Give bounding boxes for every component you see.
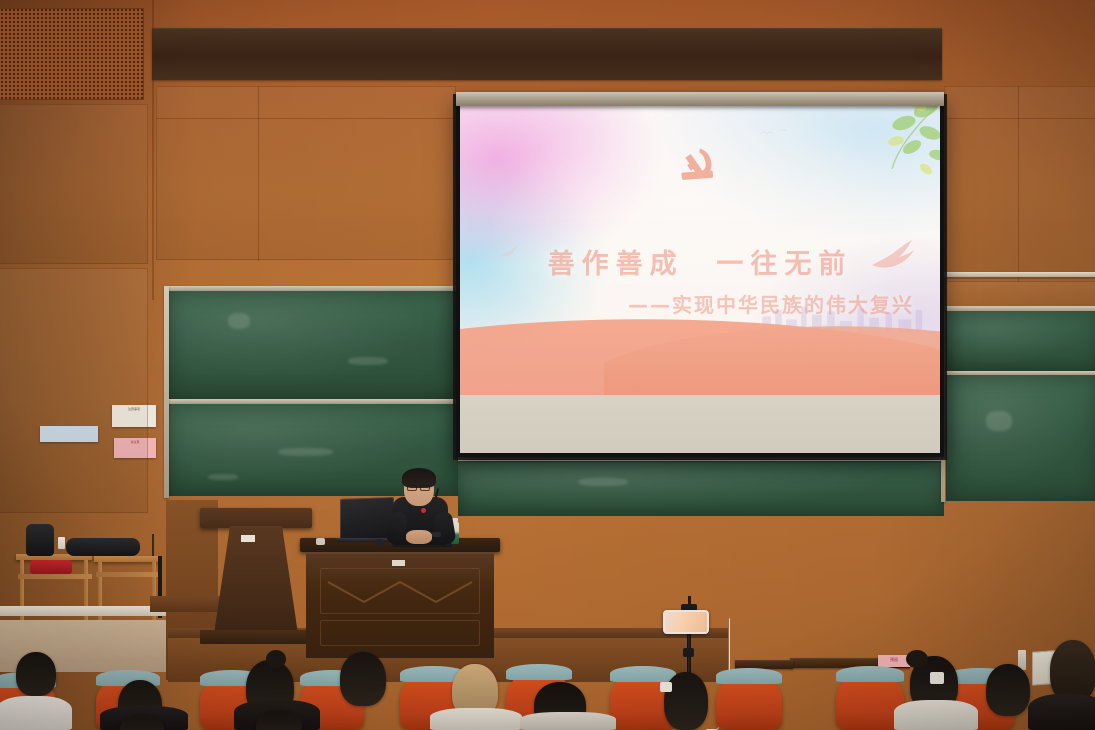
lectern-top	[200, 508, 312, 528]
lecture-hall-photo: 善作善成 一往无前 ——实现中华民族的伟大复兴 主讲人：耿悦	[0, 0, 1095, 730]
umbrella-handle	[152, 534, 154, 556]
paper-cup	[58, 537, 65, 549]
lectern-base	[200, 630, 312, 644]
desk-label-plate	[392, 560, 405, 566]
presenter-desk-panel-lower	[320, 620, 480, 646]
wall-panel-right-lower	[944, 278, 1095, 308]
seat-back-7-top	[610, 666, 676, 682]
wall-seam-vertical-3	[1018, 86, 1019, 282]
slide-bottom-band	[460, 395, 940, 453]
chalkboard-left-upper	[168, 291, 458, 399]
desk-zigzag-carving	[324, 576, 476, 608]
cpc-hammer-sickle-emblem-icon	[672, 143, 728, 189]
wall-seam-vertical-2	[258, 86, 259, 261]
audience-shoulders-6	[894, 700, 978, 730]
black-jacket-on-table	[66, 538, 140, 556]
wall-dark-band	[152, 28, 942, 80]
wall-panel-upper-left	[0, 104, 148, 264]
audience-head-10	[1050, 640, 1095, 702]
projector-screen-housing	[456, 92, 944, 106]
flying-dove-icon	[866, 235, 918, 277]
chalkboard-frame-left-side	[164, 286, 169, 498]
chalkboard-center	[458, 460, 944, 516]
seat-back-8-top	[716, 668, 782, 684]
wall-trim-rail-right	[944, 272, 1095, 277]
presentation-slide: 善作善成 一往无前 ——实现中华民族的伟大复兴 主讲人：耿悦	[460, 101, 940, 453]
seat-back-6-top	[506, 664, 572, 680]
seat-back-9-top	[836, 666, 904, 682]
wall-seam-vertical-1	[152, 0, 154, 300]
presenter-wristwatch	[432, 532, 441, 537]
audience-head-1	[16, 652, 56, 696]
audience-shoulders-7	[1028, 694, 1095, 730]
audience-head-7	[664, 672, 708, 730]
presenter-glasses	[407, 485, 417, 491]
audience-head-12	[256, 710, 302, 730]
presenter-glasses-right	[420, 485, 430, 491]
hair-clip-1	[660, 682, 672, 692]
wall-seam-horizontal-2	[944, 118, 1095, 119]
small-birds-icon	[758, 126, 798, 142]
side-table-right-apron	[96, 572, 158, 577]
audience-shoulders-5	[520, 712, 616, 730]
audience-shoulders-1	[0, 696, 72, 730]
desk-small-device	[316, 538, 325, 545]
chalkboard-right-lower	[946, 375, 1095, 501]
wall-seam-horizontal-1	[156, 118, 456, 119]
hair-bun-1	[266, 650, 286, 668]
hair-clip-2	[930, 672, 944, 684]
lectern-label-plate	[241, 535, 255, 542]
side-table-right	[94, 556, 158, 562]
presenter-hands	[406, 530, 432, 544]
black-backpack	[26, 524, 54, 556]
side-table-left-leg-1	[20, 560, 24, 628]
acoustic-perforated-panel-left	[0, 8, 144, 100]
leaves-decoration-icon	[826, 101, 940, 207]
side-table-left-leg-2	[84, 560, 88, 626]
audience-head-4	[340, 652, 386, 706]
wall-panel-upper-center	[156, 86, 456, 260]
wall-panel-left-lower	[0, 268, 148, 513]
hair-bun-2	[906, 650, 928, 668]
audience-head-9	[986, 664, 1030, 716]
desk-mouse	[374, 539, 384, 545]
tripod-joint	[683, 648, 694, 657]
wall-panel-upper-right	[944, 86, 1095, 282]
audience-shoulders-4	[430, 708, 522, 730]
red-bag-under-table	[30, 560, 72, 574]
stage-step-left	[150, 596, 220, 612]
projection-screen: 善作善成 一往无前 ——实现中华民族的伟大复兴 主讲人：耿悦	[456, 97, 944, 457]
chalkboard-right-upper	[946, 311, 1095, 371]
smartphone-on-tripod[interactable]	[663, 610, 709, 634]
small-dove-icon	[498, 242, 524, 260]
presenter-lapel-badge	[421, 508, 426, 513]
baseboard-left	[0, 606, 168, 616]
side-table-left-apron	[18, 574, 92, 579]
